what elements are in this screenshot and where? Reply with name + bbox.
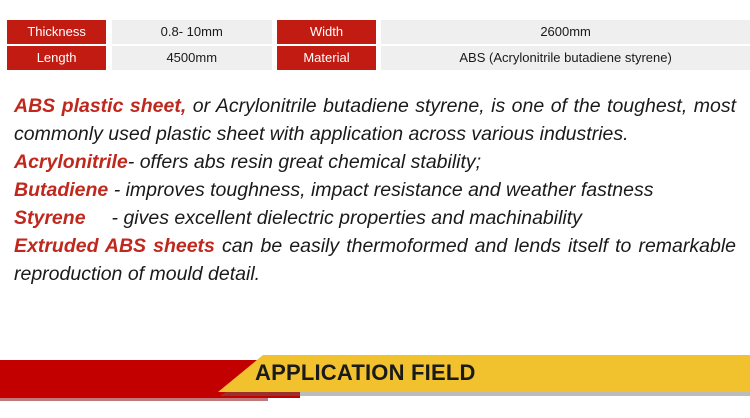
banner-red-shadow (0, 398, 268, 401)
spec-value-thickness: 0.8- 10mm (112, 20, 272, 44)
table-row: Thickness 0.8- 10mm Width 2600mm (7, 20, 750, 44)
spec-value-length: 4500mm (112, 46, 272, 70)
spec-label-material: Material (277, 46, 375, 70)
keyword-styrene: Styrene (14, 207, 86, 229)
product-description: ABS plastic sheet, or Acrylonitrile buta… (14, 92, 736, 288)
application-field-banner: APPLICATION FIELD (0, 352, 750, 404)
description-intro-paragraph: ABS plastic sheet, or Acrylonitrile buta… (14, 92, 736, 148)
banner-yellow-shadow (220, 392, 750, 396)
description-bullet-acrylonitrile: Acrylonitrile- offers abs resin great ch… (14, 148, 736, 176)
description-bullet-styrene-text: - gives excellent dielectric properties … (112, 207, 582, 229)
spec-label-width: Width (277, 20, 375, 44)
keyword-abs-plastic-sheet: ABS plastic sheet, (14, 95, 186, 117)
keyword-butadiene: Butadiene (14, 179, 108, 201)
spec-value-width: 2600mm (381, 20, 750, 44)
description-closing-paragraph: Extruded ABS sheets can be easily thermo… (14, 232, 736, 288)
description-bullet-acrylonitrile-text: - offers abs resin great chemical stabil… (128, 151, 481, 173)
specification-table: Thickness 0.8- 10mm Width 2600mm Length … (7, 18, 750, 72)
banner-title: APPLICATION FIELD (255, 360, 476, 386)
description-bullet-butadiene-text: - improves toughness, impact resistance … (114, 179, 654, 201)
spec-label-thickness: Thickness (7, 20, 106, 44)
keyword-extruded-abs-sheets: Extruded ABS sheets (14, 235, 215, 257)
description-bullet-butadiene: Butadiene - improves toughness, impact r… (14, 176, 736, 204)
table-row: Length 4500mm Material ABS (Acrylonitril… (7, 46, 750, 70)
description-bullet-styrene: Styrene- gives excellent dielectric prop… (14, 204, 736, 232)
keyword-acrylonitrile: Acrylonitrile (14, 151, 128, 173)
spec-value-material: ABS (Acrylonitrile butadiene styrene) (381, 46, 750, 70)
spec-label-length: Length (7, 46, 106, 70)
